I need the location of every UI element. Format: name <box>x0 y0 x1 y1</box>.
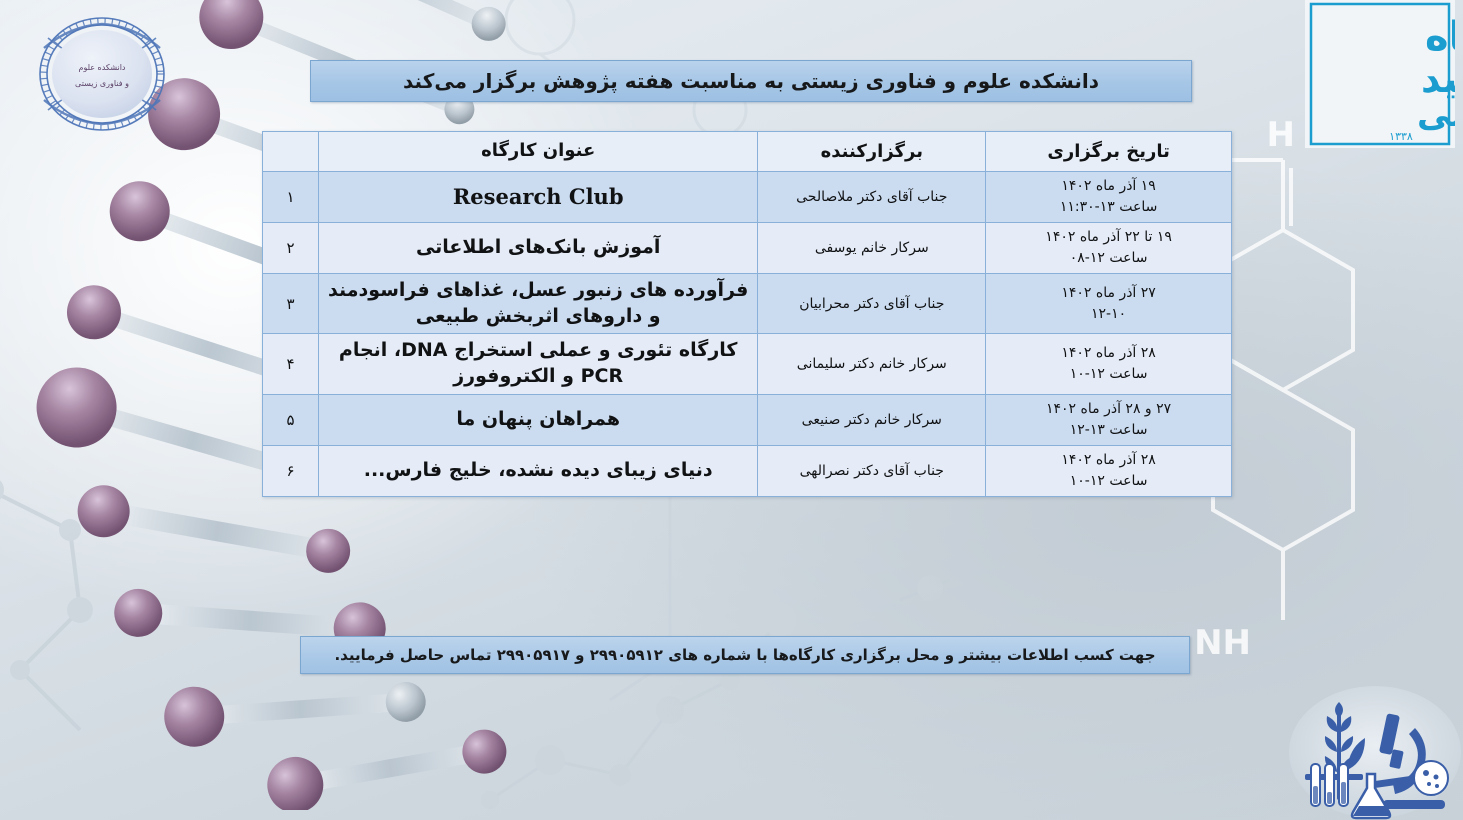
header-host: برگزارکننده <box>758 132 986 172</box>
table-row: ۱۹ آذر ماه ۱۴۰۲ساعت ۱۳-۱۱:۳۰جناب آقای دک… <box>263 172 1232 223</box>
cell-date: ۲۷ و ۲۸ آذر ماه ۱۴۰۲ساعت ۱۳-۱۲ <box>986 394 1232 445</box>
contact-banner: جهت کسب اطلاعات بیشتر و محل برگزاری کارگ… <box>300 636 1190 674</box>
cell-date: ۲۸ آذر ماه ۱۴۰۲ساعت ۱۲-۱۰ <box>986 445 1232 496</box>
cell-row-number: ۴ <box>263 334 319 394</box>
date-line-2: ساعت ۱۳-۱۲ <box>992 420 1225 441</box>
table-row: ۱۹ تا ۲۲ آذر ماه ۱۴۰۲ساعت ۱۲-۰۸سرکار خان… <box>263 223 1232 274</box>
cell-host: جناب آقای دکتر محرابیان <box>758 274 986 334</box>
university-logo-year: ۱۳۳۸ <box>1389 130 1413 143</box>
table-row: ۲۸ آذر ماه ۱۴۰۲ساعت ۱۲-۱۰جناب آقای دکتر … <box>263 445 1232 496</box>
cell-date: ۱۹ تا ۲۲ آذر ماه ۱۴۰۲ساعت ۱۲-۰۸ <box>986 223 1232 274</box>
cell-workshop-title: آموزش بانک‌های اطلاعاتی <box>318 223 757 274</box>
title-banner: دانشکده علوم و فناوری زیستی به مناسبت هف… <box>310 60 1192 102</box>
cell-workshop-title: دنیای زیبای دیده نشده، خلیج فارس... <box>318 445 757 496</box>
chem-label-nh: NH <box>1194 623 1251 663</box>
date-line-2: ۱۲-۱۰ <box>992 304 1225 325</box>
cell-date: ۱۹ آذر ماه ۱۴۰۲ساعت ۱۳-۱۱:۳۰ <box>986 172 1232 223</box>
cell-row-number: ۱ <box>263 172 319 223</box>
cell-workshop-title: همراهان پنهان ما <box>318 394 757 445</box>
date-line-1: ۲۷ آذر ماه ۱۴۰۲ <box>992 283 1225 304</box>
header-title: عنوان کارگاه <box>318 132 757 172</box>
cell-row-number: ۶ <box>263 445 319 496</box>
cell-row-number: ۵ <box>263 394 319 445</box>
cell-workshop-title: Research Club <box>318 172 757 223</box>
date-line-2: ساعت ۱۳-۱۱:۳۰ <box>992 197 1225 218</box>
poster-title: دانشکده علوم و فناوری زیستی به مناسبت هف… <box>403 69 1099 93</box>
date-line-1: ۱۹ تا ۲۲ آذر ماه ۱۴۰۲ <box>992 227 1225 248</box>
table-row: ۲۸ آذر ماه ۱۴۰۲ساعت ۱۲-۱۰سرکار خانم دکتر… <box>263 334 1232 394</box>
cell-host: سرکار خانم دکتر سلیمانی <box>758 334 986 394</box>
faculty-seal-line1: دانشکده علوم <box>78 63 125 72</box>
university-logo-calligraphy-1: دانشگاه <box>1425 13 1455 60</box>
chem-label-h: H <box>1267 120 1295 155</box>
university-logo-calligraphy-3: بهشتی <box>1417 95 1455 135</box>
date-line-1: ۲۸ آذر ماه ۱۴۰۲ <box>992 343 1225 364</box>
header-num <box>263 132 319 172</box>
table-row: ۲۷ و ۲۸ آذر ماه ۱۴۰۲ساعت ۱۳-۱۲سرکار خانم… <box>263 394 1232 445</box>
date-line-1: ۲۸ آذر ماه ۱۴۰۲ <box>992 450 1225 471</box>
cell-host: جناب آقای دکتر ملاصالحی <box>758 172 986 223</box>
university-logo: دانشگاه شهید بهشتی ۱۳۳۸ <box>1305 0 1455 148</box>
faculty-seal-line2: و فناوری زیستی <box>75 79 129 88</box>
date-line-2: ساعت ۱۲-۱۰ <box>992 471 1225 492</box>
date-line-1: ۱۹ آذر ماه ۱۴۰۲ <box>992 176 1225 197</box>
poster-canvas: CH₃ H NH <box>0 0 1463 820</box>
molecule-chain-art <box>430 560 990 820</box>
faculty-seal-logo: دانشکده علوم و فناوری زیستی <box>14 8 190 140</box>
contact-info-text: جهت کسب اطلاعات بیشتر و محل برگزاری کارگ… <box>334 646 1155 664</box>
date-line-1: ۲۷ و ۲۸ آذر ماه ۱۴۰۲ <box>992 399 1225 420</box>
cell-icon <box>1414 761 1448 795</box>
cell-workshop-title: کارگاه تئوری و عملی استخراج DNA، انجام P… <box>318 334 757 394</box>
cell-row-number: ۳ <box>263 274 319 334</box>
cell-date: ۲۷ آذر ماه ۱۴۰۲۱۲-۱۰ <box>986 274 1232 334</box>
cell-host: سرکار خانم یوسفی <box>758 223 986 274</box>
lab-science-logo <box>1287 682 1463 820</box>
table-header-row: تاریخ برگزاری برگزارکننده عنوان کارگاه <box>263 132 1232 172</box>
date-line-2: ساعت ۱۲-۱۰ <box>992 364 1225 385</box>
date-line-2: ساعت ۱۲-۰۸ <box>992 248 1225 269</box>
cell-workshop-title: فرآورده های زنبور عسل، غذاهای فراسودمند … <box>318 274 757 334</box>
cell-date: ۲۸ آذر ماه ۱۴۰۲ساعت ۱۲-۱۰ <box>986 334 1232 394</box>
cell-row-number: ۲ <box>263 223 319 274</box>
table-body: ۱۹ آذر ماه ۱۴۰۲ساعت ۱۳-۱۱:۳۰جناب آقای دک… <box>263 172 1232 497</box>
table-row: ۲۷ آذر ماه ۱۴۰۲۱۲-۱۰جناب آقای دکتر محراب… <box>263 274 1232 334</box>
cell-host: سرکار خانم دکتر صنیعی <box>758 394 986 445</box>
workshop-schedule-table: تاریخ برگزاری برگزارکننده عنوان کارگاه ۱… <box>262 131 1232 497</box>
header-date: تاریخ برگزاری <box>986 132 1232 172</box>
cell-host: جناب آقای دکتر نصرالهی <box>758 445 986 496</box>
